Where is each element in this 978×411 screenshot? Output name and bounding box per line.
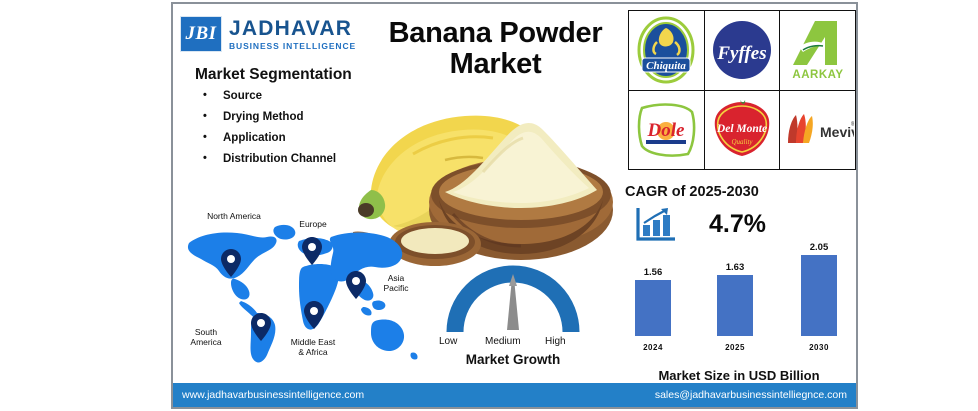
gauge-tick-low: Low [439,336,457,347]
bar-rect [717,275,753,336]
bar-category-label: 2025 [713,343,757,352]
bar-chart-title: Market Size in USD Billion [621,368,857,383]
bar-rect [801,255,837,336]
gauge-tick-medium: Medium [485,336,521,347]
brand-logo: JBI JADHAVAR BUSINESS INTELLIGENCE [180,16,356,52]
footer-email[interactable]: sales@jadhavarbusinessintelliegnce.com [655,389,847,401]
map-label-asia-pacific: Asia Pacific [375,273,417,293]
brand-subtitle: BUSINESS INTELLIGENCE [229,42,356,51]
cagr-label: CAGR of 2025-2030 [625,184,855,200]
bar-value-label: 2.05 [801,242,837,253]
bar-category-label: 2030 [797,343,841,352]
infographic-frame: JBI JADHAVAR BUSINESS INTELLIGENCE Banan… [171,2,858,409]
infographic-canvas: JBI JADHAVAR BUSINESS INTELLIGENCE Banan… [0,0,978,411]
svg-text:AARKAY: AARKAY [792,69,843,81]
bar-rect [635,280,671,336]
company-logo-delmonte: Del Monte Quality [705,91,780,170]
bar-value-label: 1.63 [717,262,753,273]
company-logo-fyffes: Fyffes [705,11,780,90]
bar-chart-plot: 1.56 2024 1.63 2025 2.05 2030 [621,236,857,354]
svg-text:®: ® [851,121,854,128]
svg-text:Mevive: Mevive [820,124,854,140]
bar-group-2030: 2.05 [801,242,837,336]
bar-group-2025: 1.63 [717,262,753,336]
jbi-logo-mark: JBI [180,16,222,52]
company-logo-aarkay: AARKAY [780,11,855,90]
svg-text:Fyffes: Fyffes [716,43,766,64]
gauge-caption: Market Growth [423,352,603,367]
bar-group-2024: 1.56 [635,267,671,336]
company-logo-mevive: Mevive ® [780,91,855,170]
map-label-europe: Europe [287,219,339,229]
svg-text:Dole: Dole [647,120,686,141]
gauge-tick-high: High [545,336,566,347]
gauge-tick-labels: Low Medium High [423,336,603,350]
bar-value-label: 1.56 [635,267,671,278]
segmentation-heading: Market Segmentation [195,66,390,84]
bar-category-label: 2024 [631,343,675,352]
regional-world-map: North America Europe Asia Pacific South … [179,209,424,389]
footer-website[interactable]: www.jadhavarbusinessintelligence.com [182,389,364,401]
company-logo-grid: Chiquita Fyffes AARKAY [628,10,856,170]
map-label-north-america: North America [207,211,261,221]
market-size-bar-chart: 1.56 2024 1.63 2025 2.05 2030 Market Siz… [621,236,857,381]
brand-name: JADHAVAR [229,18,356,39]
brand-wordmark: JADHAVAR BUSINESS INTELLIGENCE [229,18,356,51]
map-label-south-america: South America [181,327,231,347]
svg-text:Chiquita: Chiquita [646,60,686,72]
map-label-middle-east-africa: Middle East & Africa [289,337,337,357]
svg-text:Del Monte: Del Monte [716,123,767,135]
cagr-block: CAGR of 2025-2030 4.7% [625,184,855,242]
footer-bar: www.jadhavarbusinessintelligence.com sal… [173,383,856,407]
svg-text:Quality: Quality [731,138,753,146]
page-title: Banana Powder Market [363,18,628,81]
market-growth-gauge: Low Medium High Market Growth [423,256,603,381]
cagr-value: 4.7% [709,210,766,239]
company-logo-dole: Dole [629,91,704,170]
company-logo-chiquita: Chiquita [629,11,704,90]
